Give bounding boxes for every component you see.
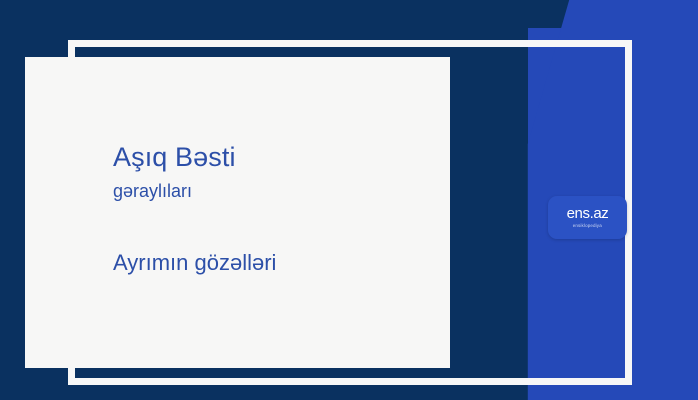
logo-wordmark: ens.az <box>567 206 609 221</box>
logo-tagline: ensiklopediya <box>573 223 602 229</box>
work-title: Ayrımın gözəlləri <box>113 248 443 278</box>
page-subtitle: gəraylıları <box>113 178 443 204</box>
ensaz-logo-badge[interactable]: ens.az ensiklopediya <box>548 196 627 239</box>
title-group: Aşıq Bəsti gəraylıları Ayrımın gözəlləri <box>113 140 443 278</box>
page-title: Aşıq Bəsti <box>113 140 443 174</box>
slide-canvas: Aşıq Bəsti gəraylıları Ayrımın gözəlləri… <box>0 0 698 400</box>
